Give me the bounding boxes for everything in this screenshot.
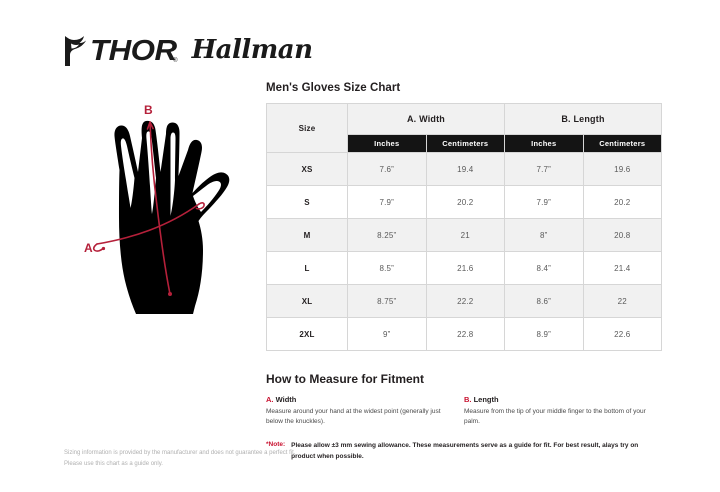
cell-length-centimeters: 21.4 <box>583 252 662 285</box>
cell-size: 2XL <box>267 318 348 351</box>
cell-size: S <box>267 186 348 219</box>
size-chart-panel: Men's Gloves Size Chart Size A. Width B.… <box>266 82 662 462</box>
header-group-width: A. Width <box>348 104 505 135</box>
cell-width-inches: 9” <box>348 318 427 351</box>
measure-length-block: B. Length Measure from the tip of your m… <box>464 395 662 427</box>
table-row: L 8.5” 21.6 8.4” 21.4 <box>267 252 662 285</box>
cell-length-inches: 8.6” <box>505 285 584 318</box>
measure-width-block: A. Width Measure around your hand at the… <box>266 395 464 427</box>
cell-width-centimeters: 21.6 <box>426 252 505 285</box>
cell-length-inches: 8” <box>505 219 584 252</box>
cell-width-inches: 7.9” <box>348 186 427 219</box>
hand-measurement-diagram: A B <box>62 92 267 330</box>
cell-length-centimeters: 20.8 <box>583 219 662 252</box>
table-row: XL 8.75” 22.2 8.6” 22 <box>267 285 662 318</box>
cell-length-inches: 8.4” <box>505 252 584 285</box>
note-text: Please allow ±3 mm sewing allowance. The… <box>291 441 649 462</box>
measure-length-text: Measure from the tip of your middle fing… <box>464 407 652 427</box>
header-width-centimeters: Centimeters <box>426 135 505 153</box>
cell-size: L <box>267 252 348 285</box>
thor-wordmark: THOR <box>90 37 177 66</box>
thor-helmet-icon <box>62 35 88 67</box>
cell-width-inches: 8.25” <box>348 219 427 252</box>
cell-length-inches: 7.9” <box>505 186 584 219</box>
cell-length-centimeters: 20.2 <box>583 186 662 219</box>
table-row: M 8.25” 21 8” 20.8 <box>267 219 662 252</box>
cell-size: XS <box>267 153 348 186</box>
header-width-inches: Inches <box>348 135 427 153</box>
diagram-label-b: B <box>144 103 153 117</box>
header-length-centimeters: Centimeters <box>583 135 662 153</box>
chart-title: Men's Gloves Size Chart <box>266 82 662 94</box>
table-row: XS 7.6” 19.4 7.7” 19.6 <box>267 153 662 186</box>
disclaimer-line-2: Please use this chart as a guide only. <box>64 459 295 470</box>
how-to-measure-columns: A. Width Measure around your hand at the… <box>266 395 662 427</box>
cell-length-centimeters: 22.6 <box>583 318 662 351</box>
cell-width-centimeters: 22.2 <box>426 285 505 318</box>
measure-width-name: Width <box>276 395 297 404</box>
size-chart-table: Size A. Width B. Length Inches Centimete… <box>266 103 662 351</box>
measure-width-letter: A. <box>266 395 274 404</box>
measure-length-letter: B. <box>464 395 472 404</box>
measure-length-heading: B. Length <box>464 395 652 404</box>
how-to-measure-title: How to Measure for Fitment <box>266 372 662 386</box>
table-row: 2XL 9” 22.8 8.9” 22.6 <box>267 318 662 351</box>
note-block: *Note: Please allow ±3 mm sewing allowan… <box>266 441 662 462</box>
header-group-length: B. Length <box>505 104 662 135</box>
cell-width-centimeters: 22.8 <box>426 318 505 351</box>
cell-width-centimeters: 19.4 <box>426 153 505 186</box>
measure-width-text: Measure around your hand at the widest p… <box>266 407 454 427</box>
cell-length-centimeters: 22 <box>583 285 662 318</box>
table-row: S 7.9” 20.2 7.9” 20.2 <box>267 186 662 219</box>
measure-width-heading: A. Width <box>266 395 454 404</box>
cell-width-centimeters: 20.2 <box>426 186 505 219</box>
cell-width-inches: 8.75” <box>348 285 427 318</box>
cell-length-inches: 8.9” <box>505 318 584 351</box>
hallman-wordmark: Hallman <box>192 37 313 63</box>
diagram-label-a: A <box>84 241 93 255</box>
brand-logo-bar: THOR ® Hallman <box>62 30 313 72</box>
cell-width-inches: 7.6” <box>348 153 427 186</box>
cell-length-centimeters: 19.6 <box>583 153 662 186</box>
cell-size: M <box>267 219 348 252</box>
cell-width-inches: 8.5” <box>348 252 427 285</box>
thor-logo: THOR ® <box>62 35 178 67</box>
disclaimer-line-1: Sizing information is provided by the ma… <box>64 448 295 459</box>
header-size: Size <box>267 104 348 153</box>
cell-length-inches: 7.7” <box>505 153 584 186</box>
measure-length-name: Length <box>474 395 499 404</box>
disclaimer: Sizing information is provided by the ma… <box>64 448 295 469</box>
table-header-group-row: Size A. Width B. Length <box>267 104 662 135</box>
cell-width-centimeters: 21 <box>426 219 505 252</box>
cell-size: XL <box>267 285 348 318</box>
header-length-inches: Inches <box>505 135 584 153</box>
